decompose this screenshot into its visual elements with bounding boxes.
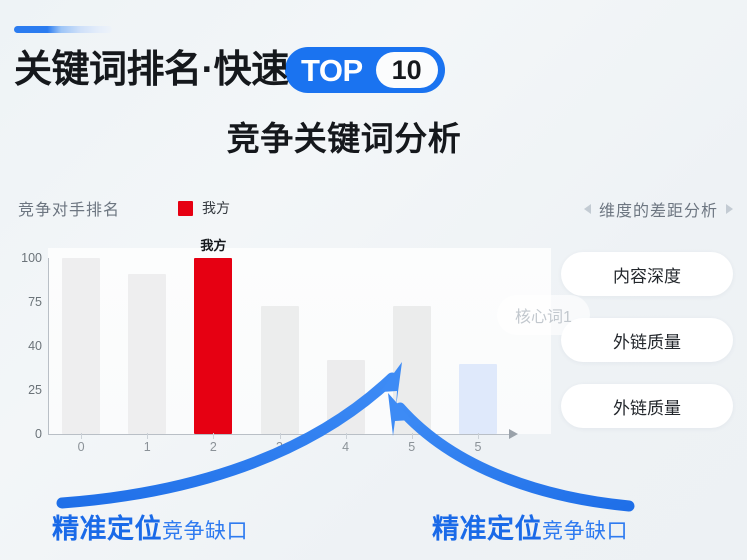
y-axis-tick-labels: 1007540250 (6, 248, 42, 434)
chart-bar: 我方 (194, 258, 232, 434)
chart-bar-rect (62, 258, 100, 434)
y-axis-tick: 25 (6, 383, 42, 397)
header: 关键词排名·快速 TOP 10 竞争关键词分析 (14, 26, 734, 160)
x-axis-tick: 4 (342, 440, 349, 454)
chart-bar (327, 258, 365, 434)
legend-swatch-ours (178, 201, 193, 216)
page-subtitle: 竞争关键词分析 (14, 112, 734, 160)
y-axis-tick: 0 (6, 427, 42, 441)
chart-bar (393, 258, 431, 434)
chart-bar-rect (327, 360, 365, 434)
top-badge: TOP 10 (285, 47, 445, 93)
x-axis-tick: 2 (210, 440, 217, 454)
x-axis-tick-mark (81, 433, 82, 439)
footer-caption-right-soft: 竞争缺口 (542, 515, 628, 545)
core-keyword-chip[interactable]: 核心词1 (497, 295, 590, 335)
chart-bar-rect (261, 306, 299, 434)
chart-bar-rect (393, 306, 431, 434)
chart-bar (62, 258, 100, 434)
footer-caption-right: 精准定位 竞争缺口 (432, 507, 628, 546)
chart-section-label: 竞争对手排名 (18, 196, 120, 220)
chart-bar-rect (128, 274, 166, 434)
legend-label-ours: 我方 (202, 198, 230, 218)
chart-bar (459, 258, 497, 434)
dimension-card[interactable]: 内容深度 (561, 252, 733, 296)
x-axis-tick: 0 (78, 440, 85, 454)
caret-left-icon[interactable] (584, 204, 591, 214)
x-axis-tick-mark (346, 433, 347, 439)
footer-caption-right-strong: 精准定位 (432, 507, 542, 546)
dimension-section-title: 维度的差距分析 (599, 197, 718, 221)
chart-legend: 我方 (178, 198, 230, 218)
chart-bar (128, 258, 166, 434)
chart-bars: 我方 (48, 258, 511, 434)
accent-bar (14, 26, 112, 33)
dimension-section-header: 维度的差距分析 (584, 197, 733, 221)
chart-bar-rect (194, 258, 232, 434)
y-axis-tick: 75 (6, 295, 42, 309)
footer-caption-left-strong: 精准定位 (52, 507, 162, 546)
chart-bar (261, 258, 299, 434)
dimension-card-list: 内容深度外链质量外链质量 (561, 252, 733, 428)
x-axis-tick-mark (412, 433, 413, 439)
page-title: 关键词排名·快速 (14, 51, 289, 89)
chart-bar-rect (459, 364, 497, 434)
top-badge-count: 10 (376, 52, 438, 88)
dimension-card[interactable]: 外链质量 (561, 384, 733, 428)
x-axis-tick: 5 (474, 440, 481, 454)
title-row: 关键词排名·快速 TOP 10 (14, 44, 734, 96)
chart-bar-highlight-label: 我方 (200, 235, 226, 254)
footer-caption-left-soft: 竞争缺口 (162, 515, 248, 545)
top-badge-label: TOP (301, 55, 376, 86)
x-axis-tick-labels: 0123455 (48, 440, 511, 462)
y-axis-tick: 100 (6, 251, 42, 265)
footer-caption-left: 精准定位 竞争缺口 (52, 507, 248, 546)
x-axis-arrow-icon (509, 429, 518, 439)
x-axis-tick-mark (213, 433, 214, 439)
x-axis-tick: 5 (408, 440, 415, 454)
y-axis-tick: 40 (6, 339, 42, 353)
x-axis-tick-mark (478, 433, 479, 439)
competitor-ranking-chart: 1007540250 我方 0123455 (6, 248, 551, 470)
x-axis-tick: 1 (144, 440, 151, 454)
x-axis-tick-mark (280, 433, 281, 439)
caret-right-icon[interactable] (726, 204, 733, 214)
x-axis-tick: 3 (276, 440, 283, 454)
x-axis-tick-mark (147, 433, 148, 439)
